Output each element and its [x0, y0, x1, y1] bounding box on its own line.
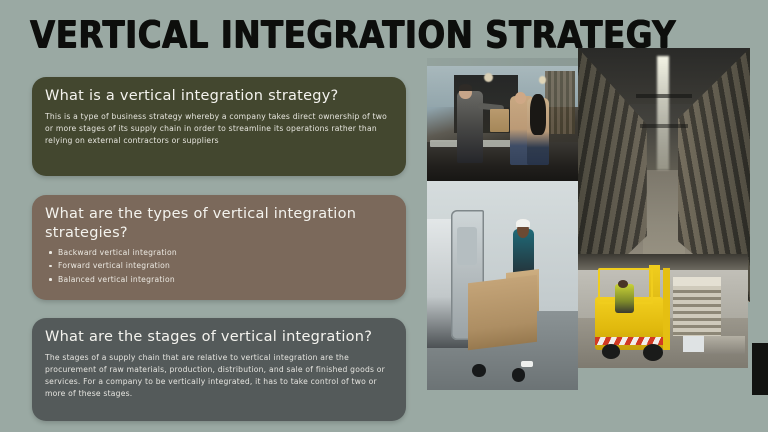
card-body: This is a type of business strategy wher…: [45, 111, 393, 148]
edge-artifact-block: [752, 343, 768, 395]
list-item: Backward vertical integration: [45, 246, 393, 260]
card-heading: What are the stages of vertical integrat…: [45, 328, 393, 347]
card-stages[interactable]: What are the stages of vertical integrat…: [32, 318, 406, 421]
stacked-pallet-top: [673, 277, 721, 286]
types-bullet-list: Backward vertical integration Forward ve…: [45, 246, 393, 287]
slide-canvas: Vertical Integration Strategy What is a …: [0, 0, 768, 432]
shop-counter: [427, 142, 578, 181]
pallet-box: [683, 336, 703, 352]
stacked-pallet: [673, 279, 721, 336]
forklift-warehouse-photo: [578, 254, 748, 368]
delivery-worker-cap: [516, 219, 530, 227]
warehouse-ceiling-lights: [657, 56, 669, 170]
list-item: Forward vertical integration: [45, 259, 393, 273]
forklift-mast-inner: [663, 268, 670, 350]
shop-customer-hair: [530, 94, 547, 135]
delivery-worker-photo: [427, 181, 578, 390]
shop-clothing-rack: [545, 71, 575, 134]
retail-shop-photo: [427, 66, 578, 181]
delivery-box-large: [468, 275, 537, 350]
shop-customer-head: [515, 92, 526, 104]
shop-clerk-hair: [459, 84, 472, 91]
forklift-tire: [643, 344, 663, 361]
shopping-bag: [490, 109, 508, 132]
hand-truck-wheel: [512, 368, 526, 382]
shop-clerk-figure: [457, 91, 483, 162]
conveyor: [700, 336, 744, 354]
list-item: Balanced vertical integration: [45, 273, 393, 287]
card-heading: What is a vertical integration strategy?: [45, 87, 393, 106]
card-types[interactable]: What are the types of vertical integrati…: [32, 195, 406, 300]
delivery-van-window: [457, 227, 477, 265]
warehouse-beam: [636, 94, 691, 98]
warehouse-beam: [640, 124, 688, 128]
forklift-operator: [615, 284, 634, 314]
card-heading: What are the types of vertical integrati…: [45, 205, 393, 243]
card-body: The stages of a supply chain that are re…: [45, 352, 393, 401]
card-what-is[interactable]: What is a vertical integration strategy?…: [32, 77, 406, 176]
delivery-worker-shoe: [521, 361, 533, 367]
